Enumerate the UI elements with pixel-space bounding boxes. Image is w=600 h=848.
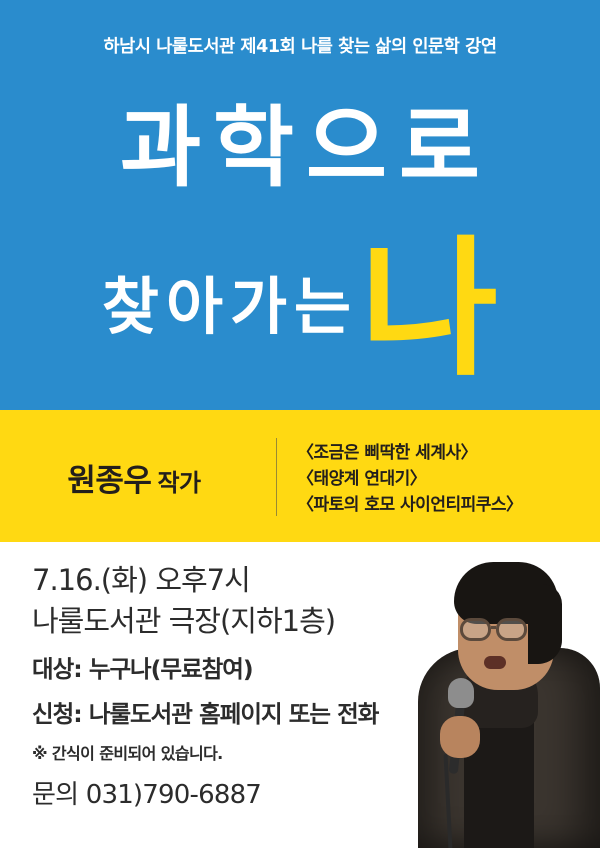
- glasses-bridge-icon: [491, 626, 496, 629]
- event-datetime: 7.16.(화) 오후7시: [32, 560, 432, 601]
- speaker-name-block: 원종우작가: [0, 455, 268, 500]
- speaker-hair: [454, 562, 558, 624]
- poster-title-accent-character: 나: [360, 251, 498, 369]
- speaker-role: 작가: [157, 469, 200, 497]
- microphone-head-icon: [448, 678, 474, 708]
- poster-title-line-1: 과학으로: [0, 98, 600, 198]
- poster-title-line-2: 찾아가는 나: [0, 243, 600, 353]
- event-details-block: 7.16.(화) 오후7시 나룰도서관 극장(지하1층) 대상: 누구나(무료참…: [32, 560, 432, 812]
- speaker-name: 원종우: [67, 463, 151, 499]
- glasses-left-lens-icon: [460, 618, 491, 641]
- book-list: 〈조금은 삐딱한 세계사〉 〈태양계 연대기〉 〈파토의 호모 사이언티피쿠스〉: [297, 440, 523, 518]
- book-title: 〈파토의 호모 사이언티피쿠스〉: [297, 492, 523, 518]
- speaker-mouth: [484, 656, 506, 669]
- speaker-hand: [440, 716, 480, 758]
- event-venue: 나룰도서관 극장(지하1층): [32, 601, 432, 642]
- poster-title-line-2-white: 찾아가는: [102, 270, 358, 344]
- event-registration: 신청: 나룰도서관 홈페이지 또는 전화: [32, 697, 432, 732]
- event-contact-phone: 문의 031)790-6887: [32, 778, 432, 812]
- event-audience: 대상: 누구나(무료참여): [32, 652, 432, 687]
- poster-canvas: 하남시 나룰도서관 제41회 나를 찾는 삶의 인문학 강연 과학으로 찾아가는…: [0, 0, 600, 848]
- speaker-photo: [410, 548, 600, 848]
- vertical-divider: [276, 438, 277, 516]
- book-title: 〈태양계 연대기〉: [297, 466, 523, 492]
- glasses-right-lens-icon: [496, 618, 527, 641]
- book-title: 〈조금은 삐딱한 세계사〉: [297, 440, 523, 466]
- event-kicker: 하남시 나룰도서관 제41회 나를 찾는 삶의 인문학 강연: [0, 33, 600, 58]
- event-note: ※ 간식이 준비되어 있습니다.: [32, 741, 432, 767]
